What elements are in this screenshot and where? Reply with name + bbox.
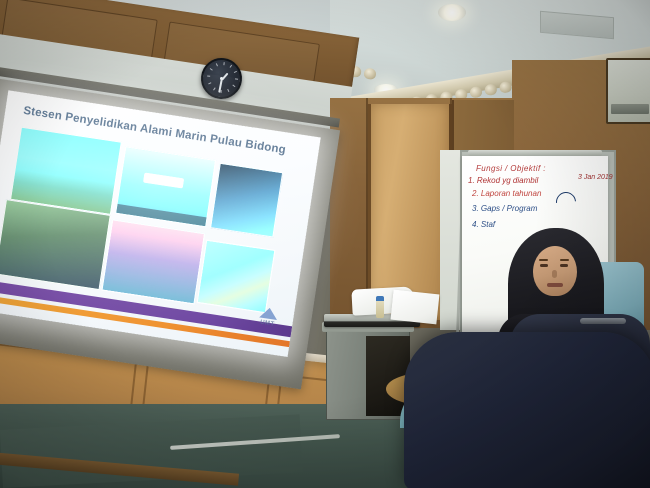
bottle-cap-icon [376,296,384,301]
umt-logo: UMT [253,306,282,334]
air-conditioner-unit [606,58,650,124]
boat-shape-icon [143,173,184,189]
logo-text: UMT [254,319,281,329]
presenter-face [533,246,577,296]
nose-icon [552,270,557,278]
ceiling-downlight-icon [438,4,466,21]
cornice-bead-icon [499,81,513,94]
eyebrow-icon [560,259,569,261]
mouth-icon [547,283,563,287]
flipchart-item-2: 2. Laporan tahunan [472,189,541,198]
clock-tick-icon [213,87,216,90]
flipchart-arrow-icon [552,188,580,216]
flipchart-item-1: 1. Rekod yg diambil [468,176,538,185]
clock-tick-icon [233,71,236,73]
paper-sheet [391,290,440,325]
cornice-bead-icon [363,67,376,80]
ac-grille-icon [611,104,649,114]
flipchart-date: 3 Jan 2019 [578,174,613,181]
clock-tick-icon [232,85,235,88]
clock-tick-icon [229,65,232,68]
slide-photo-island-map [197,240,276,314]
slide-photo-diver-night [210,163,283,238]
chair-frame-bar [580,318,626,324]
foreground-chair: UNIVERSITI MALAYSIA TERENGGANU [404,332,650,488]
projection-screen: Stesen Penyelidikan Alami Marin Pulau Bi… [0,78,340,389]
flipchart-item-3: 3. Gaps / Program [472,204,537,213]
room-photo-scene: Stesen Penyelidikan Alami Marin Pulau Bi… [0,0,650,488]
clock-tick-icon [208,82,211,84]
clock-tick-icon [234,78,237,79]
slide-photo-research-boat [115,146,216,227]
eye-icon [560,264,568,267]
water-bottle [376,296,384,318]
logo-triangle-icon [259,306,278,320]
clock-tick-icon [223,62,224,65]
cornice-bead-icon [484,83,498,96]
flipchart-heading: Fungsi / Objektif : [476,164,546,173]
presentation-slide: Stesen Penyelidikan Alami Marin Pulau Bi… [0,90,321,357]
clock-tick-icon [215,63,217,66]
clock-tick-icon [227,89,229,92]
cornice-bead-icon [469,86,483,99]
clock-tick-icon [209,68,212,71]
slide-photo-shore-activity [101,219,205,304]
eye-icon [540,264,548,267]
flipchart-clamp[interactable] [468,150,602,156]
slide-photo-group-participants [0,199,111,290]
clock-tick-icon [220,90,221,93]
eyebrow-icon [539,259,548,261]
clock-tick-icon [207,75,210,76]
flipchart-item-4: 4. Staf [472,220,495,229]
